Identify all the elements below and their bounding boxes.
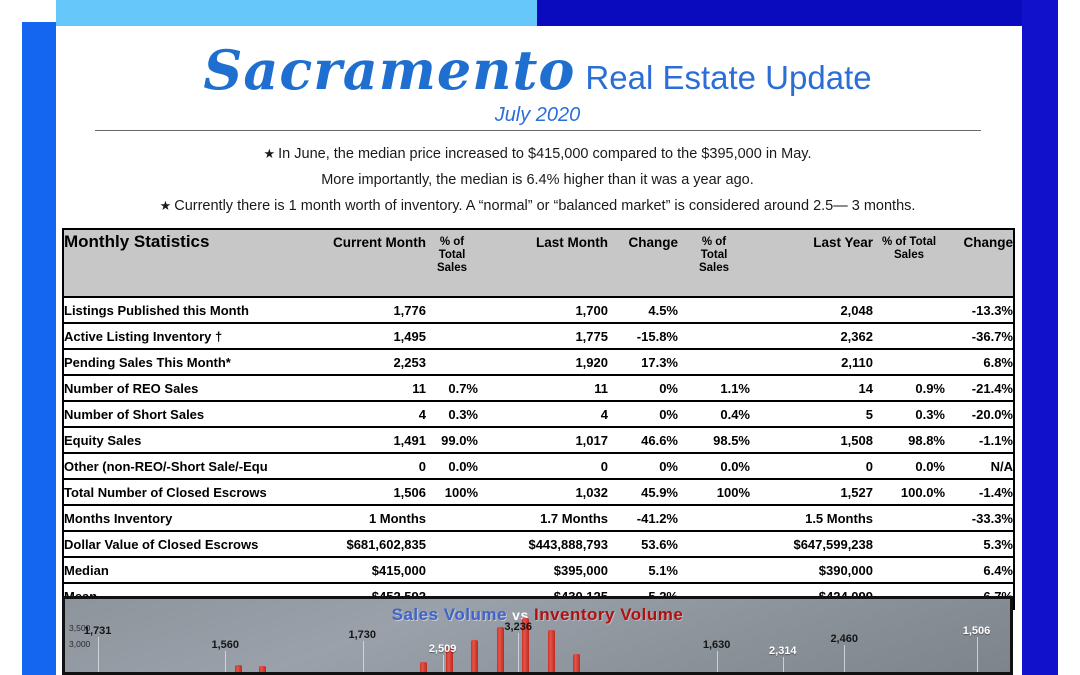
header-divider <box>95 130 981 131</box>
header-last-month: Last Month <box>478 229 608 297</box>
chart-data-label: 2,509 <box>429 643 457 655</box>
change-year-value: 6.4% <box>945 557 1014 583</box>
row-label: Listings Published this Month <box>63 297 318 323</box>
chart-data-label: 1,731 <box>84 625 112 637</box>
change-year-value: -33.3% <box>945 505 1014 531</box>
table-row: Equity Sales1,49199.0%1,01746.6%98.5%1,5… <box>63 427 1014 453</box>
chart-data-label: 1,630 <box>703 639 731 651</box>
left-accent-bar <box>22 22 56 675</box>
current-pct-value: 0.0% <box>426 453 478 479</box>
title-script-word: Sacramento <box>203 38 575 102</box>
monthly-statistics-table: Monthly Statistics Current Month % of To… <box>62 228 1015 610</box>
current-pct-value: 99.0% <box>426 427 478 453</box>
last-month-pct-value <box>678 557 750 583</box>
chart-label-leader <box>98 637 99 672</box>
current-pct-value: 100% <box>426 479 478 505</box>
current-pct-value: 0.7% <box>426 375 478 401</box>
header-change-year: Change <box>945 229 1014 297</box>
last-month-pct-value <box>678 349 750 375</box>
current-month-value: 1,506 <box>318 479 426 505</box>
star-icon: ★ <box>160 198 172 213</box>
change-year-value: N/A <box>945 453 1014 479</box>
change-month-value: 45.9% <box>608 479 678 505</box>
last-month-value: 1,700 <box>478 297 608 323</box>
last-year-pct-value <box>873 297 945 323</box>
last-year-value: 0 <box>750 453 873 479</box>
last-year-value: $390,000 <box>750 557 873 583</box>
current-month-value: 2,253 <box>318 349 426 375</box>
last-year-value: 2,048 <box>750 297 873 323</box>
last-year-pct-value <box>873 557 945 583</box>
last-year-pct-value: 0.3% <box>873 401 945 427</box>
pct-line-3: Sales <box>678 262 750 275</box>
last-month-pct-value: 100% <box>678 479 750 505</box>
header-monthly-statistics: Monthly Statistics <box>63 229 318 297</box>
last-month-pct-value <box>678 505 750 531</box>
chart-axis-tick: 3,000 <box>69 639 90 649</box>
chart-data-label: 1,730 <box>349 629 377 641</box>
chart-title-inventory: Inventory Volume <box>534 605 683 624</box>
current-month-value: 1,495 <box>318 323 426 349</box>
last-month-value: $395,000 <box>478 557 608 583</box>
table-row: Number of REO Sales110.7%110%1.1%140.9%-… <box>63 375 1014 401</box>
last-month-pct-value: 0.0% <box>678 453 750 479</box>
current-month-value: 1,776 <box>318 297 426 323</box>
right-accent-bar <box>1022 0 1058 675</box>
chart-label-leader <box>783 657 784 672</box>
current-pct-value: 0.3% <box>426 401 478 427</box>
highlight-text: More importantly, the median is 6.4% hig… <box>321 172 754 188</box>
star-icon: ★ <box>263 146 275 161</box>
last-month-value: 11 <box>478 375 608 401</box>
current-pct-value <box>426 505 478 531</box>
chart-title: Sales Volume vs Inventory Volume <box>65 605 1010 625</box>
current-pct-value <box>426 297 478 323</box>
row-label: Median <box>63 557 318 583</box>
last-month-value: 0 <box>478 453 608 479</box>
last-year-pct-value <box>873 323 945 349</box>
change-month-value: -41.2% <box>608 505 678 531</box>
current-month-value: 0 <box>318 453 426 479</box>
chart-label-leader <box>443 655 444 672</box>
table-row: Number of Short Sales40.3%40%0.4%50.3%-2… <box>63 401 1014 427</box>
change-month-value: 4.5% <box>608 297 678 323</box>
table-body: Listings Published this Month1,7761,7004… <box>63 297 1014 609</box>
chart-bar <box>548 630 555 672</box>
table-row: Months Inventory1 Months1.7 Months-41.2%… <box>63 505 1014 531</box>
current-pct-value <box>426 323 478 349</box>
current-pct-value <box>426 349 478 375</box>
pct-line-1: % of <box>882 236 906 248</box>
last-year-pct-value: 100.0% <box>873 479 945 505</box>
chart-data-label: 1,560 <box>211 639 239 651</box>
change-year-value: -21.4% <box>945 375 1014 401</box>
table-header-row: Monthly Statistics Current Month % of To… <box>63 229 1014 297</box>
table-row: Median$415,000$395,0005.1%$390,0006.4% <box>63 557 1014 583</box>
last-year-value: 1,508 <box>750 427 873 453</box>
change-year-value: -1.1% <box>945 427 1014 453</box>
header-last-year: Last Year <box>750 229 873 297</box>
change-month-value: -15.8% <box>608 323 678 349</box>
change-month-value: 0% <box>608 453 678 479</box>
chart-label-leader <box>844 645 845 672</box>
current-month-value: 1 Months <box>318 505 426 531</box>
sales-vs-inventory-chart: Sales Volume vs Inventory Volume 3,5003,… <box>62 596 1013 675</box>
pct-line-1: % of <box>426 236 478 249</box>
change-month-value: 0% <box>608 401 678 427</box>
last-month-pct-value <box>678 323 750 349</box>
table-row: Listings Published this Month1,7761,7004… <box>63 297 1014 323</box>
chart-label-leader <box>717 651 718 672</box>
header-current-month: Current Month <box>318 229 426 297</box>
current-month-value: $681,602,835 <box>318 531 426 557</box>
highlight-text: Currently there is 1 month worth of inve… <box>174 198 915 214</box>
table-row: Dollar Value of Closed Escrows$681,602,8… <box>63 531 1014 557</box>
header-pct-total-sales-current: % of Total Sales <box>426 229 478 297</box>
chart-label-leader <box>518 633 519 672</box>
change-year-value: 5.3% <box>945 531 1014 557</box>
change-year-value: -20.0% <box>945 401 1014 427</box>
chart-data-label: 1,506 <box>963 625 991 637</box>
chart-title-sales: Sales Volume <box>392 605 507 624</box>
chart-label-leader <box>977 637 978 672</box>
current-month-value: 11 <box>318 375 426 401</box>
chart-bar <box>235 665 242 672</box>
chart-bar <box>573 654 580 672</box>
masthead: SacramentoReal Estate Update July 2020 <box>62 30 1013 135</box>
last-year-value: 2,362 <box>750 323 873 349</box>
last-month-value: 1.7 Months <box>478 505 608 531</box>
table-row: Total Number of Closed Escrows1,506100%1… <box>63 479 1014 505</box>
pct-line-2: Total <box>426 249 478 262</box>
change-year-value: -36.7% <box>945 323 1014 349</box>
row-label: Other (non-REO/-Short Sale/-Equ <box>63 453 318 479</box>
top-band-dark <box>537 0 1058 26</box>
change-year-value: 6.8% <box>945 349 1014 375</box>
header-change-month: Change <box>608 229 678 297</box>
last-year-pct-value <box>873 349 945 375</box>
last-month-value: 1,017 <box>478 427 608 453</box>
slide-page: SacramentoReal Estate Update July 2020 ★… <box>0 0 1080 675</box>
row-label: Months Inventory <box>63 505 318 531</box>
highlight-line: More importantly, the median is 6.4% hig… <box>62 167 1013 193</box>
subtitle-date: July 2020 <box>62 104 1013 127</box>
page-title: SacramentoReal Estate Update <box>62 38 1013 102</box>
current-pct-value <box>426 557 478 583</box>
chart-data-label: 2,460 <box>830 633 858 645</box>
row-label: Dollar Value of Closed Escrows <box>63 531 318 557</box>
last-year-pct-value: 0.9% <box>873 375 945 401</box>
current-pct-value <box>426 531 478 557</box>
last-year-value: 1,527 <box>750 479 873 505</box>
header-pct-total-sales-last-month: % of Total Sales <box>678 229 750 297</box>
change-year-value: -13.3% <box>945 297 1014 323</box>
current-month-value: 4 <box>318 401 426 427</box>
highlight-line: ★Currently there is 1 month worth of inv… <box>62 193 1013 219</box>
current-month-value: $415,000 <box>318 557 426 583</box>
row-label: Number of Short Sales <box>63 401 318 427</box>
row-label: Total Number of Closed Escrows <box>63 479 318 505</box>
pct-line-2: Total <box>678 249 750 262</box>
change-month-value: 53.6% <box>608 531 678 557</box>
chart-bar <box>471 640 478 672</box>
chart-bar <box>420 662 427 672</box>
last-month-pct-value: 1.1% <box>678 375 750 401</box>
last-month-value: 1,775 <box>478 323 608 349</box>
last-year-value: 2,110 <box>750 349 873 375</box>
chart-bar <box>497 627 504 672</box>
pct-line-2: Total <box>909 236 936 248</box>
highlights-block: ★In June, the median price increased to … <box>62 141 1013 219</box>
last-year-value: 1.5 Months <box>750 505 873 531</box>
change-month-value: 0% <box>608 375 678 401</box>
row-label: Number of REO Sales <box>63 375 318 401</box>
change-month-value: 46.6% <box>608 427 678 453</box>
row-label: Equity Sales <box>63 427 318 453</box>
header-pct-total-sales-last-year: % of Total Sales <box>873 229 945 297</box>
highlight-text: In June, the median price increased to $… <box>278 146 811 162</box>
table-row: Other (non-REO/-Short Sale/-Equ00.0%00%0… <box>63 453 1014 479</box>
change-year-value: -1.4% <box>945 479 1014 505</box>
chart-data-label: 2,314 <box>769 645 797 657</box>
pct-line-3: Sales <box>873 249 945 262</box>
last-month-value: $443,888,793 <box>478 531 608 557</box>
last-year-value: 5 <box>750 401 873 427</box>
last-year-pct-value <box>873 505 945 531</box>
highlight-line: ★In June, the median price increased to … <box>62 141 1013 167</box>
row-label: Active Listing Inventory † <box>63 323 318 349</box>
last-year-pct-value: 98.8% <box>873 427 945 453</box>
last-month-pct-value: 98.5% <box>678 427 750 453</box>
last-year-value: 14 <box>750 375 873 401</box>
chart-label-leader <box>225 651 226 672</box>
pct-line-3: Sales <box>426 262 478 275</box>
top-band-light <box>56 0 537 26</box>
last-month-value: 1,920 <box>478 349 608 375</box>
last-month-value: 4 <box>478 401 608 427</box>
last-month-value: 1,032 <box>478 479 608 505</box>
title-rest-words: Real Estate Update <box>585 59 871 96</box>
last-month-pct-value: 0.4% <box>678 401 750 427</box>
chart-label-leader <box>363 641 364 672</box>
table-row: Active Listing Inventory †1,4951,775-15.… <box>63 323 1014 349</box>
current-month-value: 1,491 <box>318 427 426 453</box>
table-row: Pending Sales This Month*2,2531,92017.3%… <box>63 349 1014 375</box>
last-month-pct-value <box>678 297 750 323</box>
last-year-pct-value <box>873 531 945 557</box>
change-month-value: 5.1% <box>608 557 678 583</box>
last-year-value: $647,599,238 <box>750 531 873 557</box>
row-label: Pending Sales This Month* <box>63 349 318 375</box>
last-year-pct-value: 0.0% <box>873 453 945 479</box>
change-month-value: 17.3% <box>608 349 678 375</box>
chart-data-label: 3,236 <box>504 621 532 633</box>
last-month-pct-value <box>678 531 750 557</box>
pct-line-1: % of <box>678 236 750 249</box>
chart-bar <box>259 666 266 672</box>
